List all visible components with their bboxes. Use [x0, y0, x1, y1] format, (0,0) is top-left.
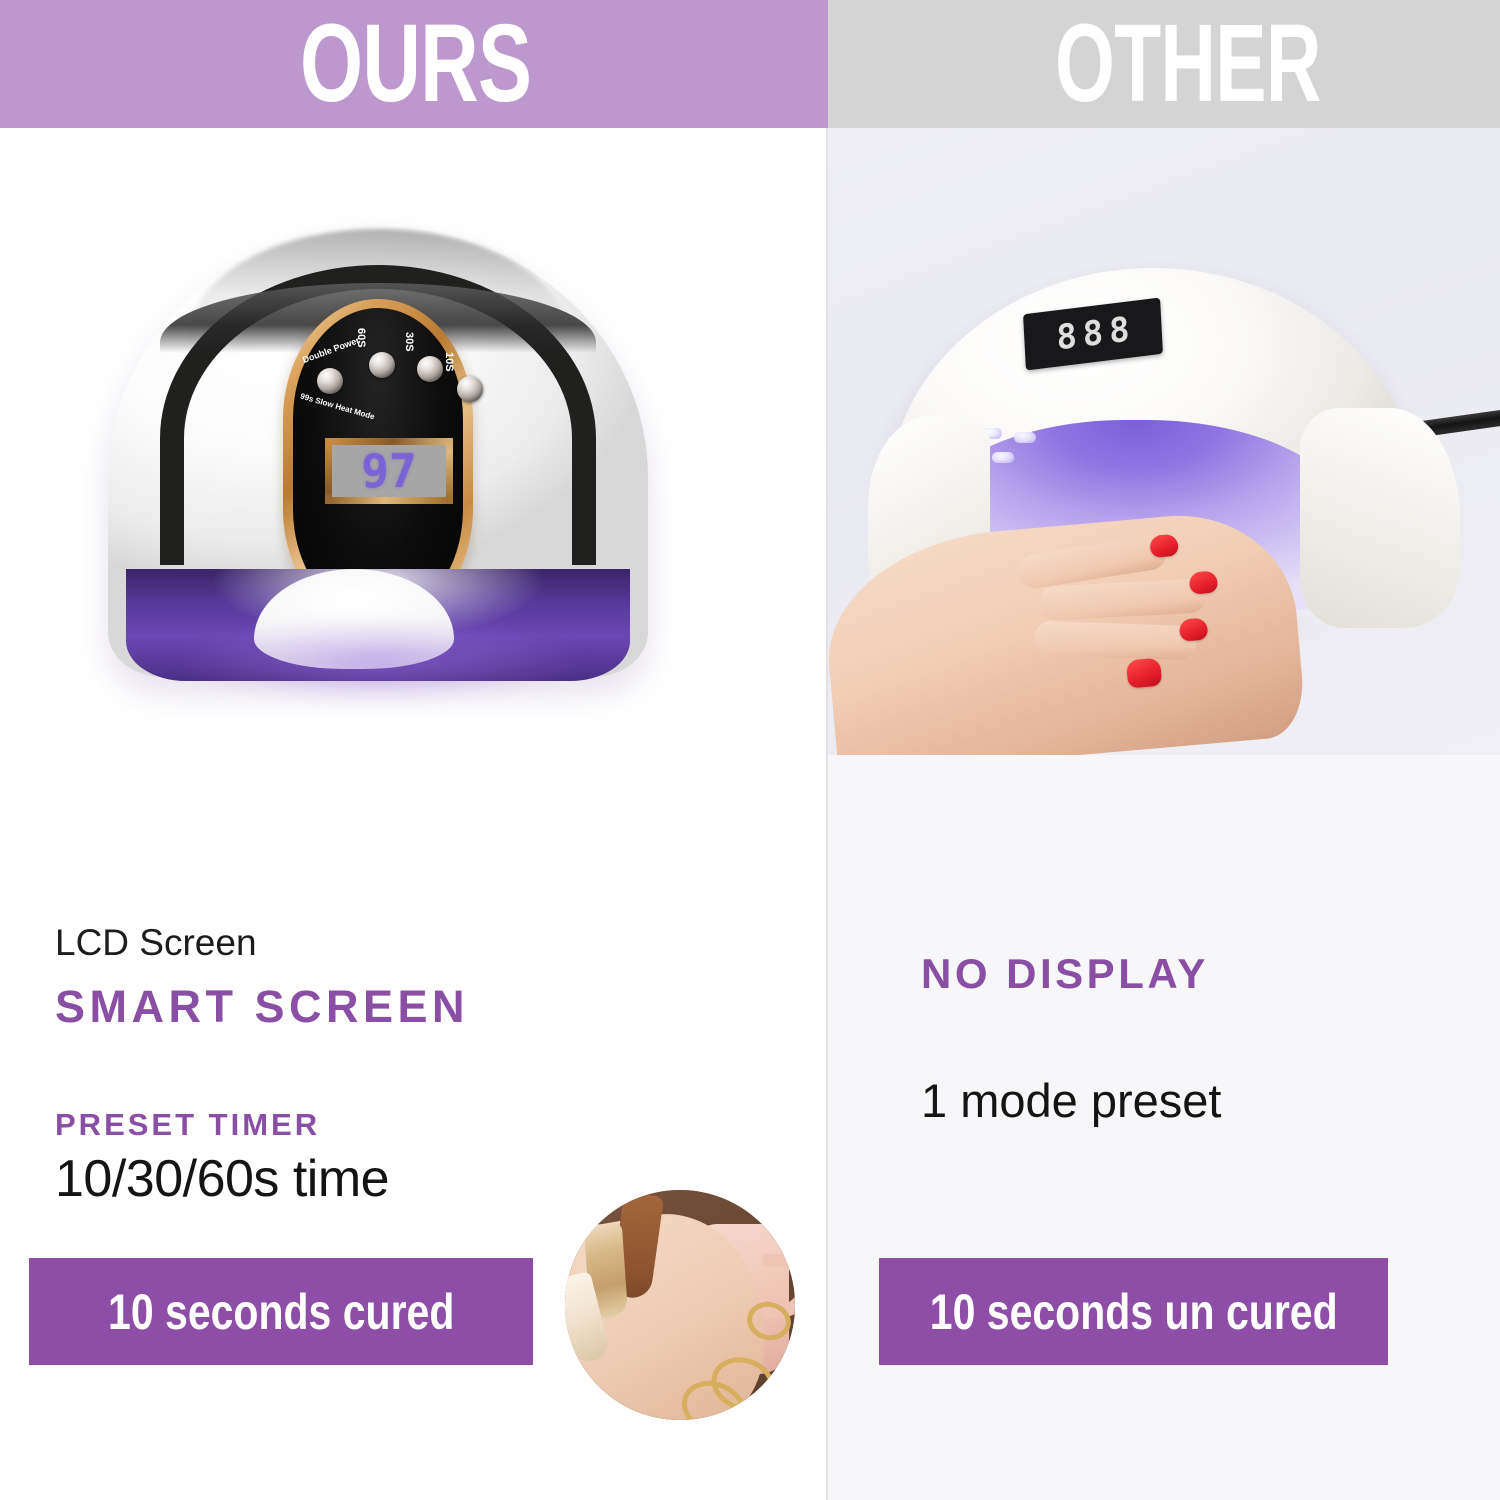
other-feature1-headline: NO DISPLAY — [921, 948, 1481, 1000]
uv-glow-halo — [98, 617, 658, 727]
button-30s[interactable] — [417, 356, 443, 382]
lcd-screen: 97 — [325, 438, 453, 504]
ours-feature1-label: LCD Screen — [55, 920, 755, 966]
ours-feature2-label: PRESET TIMER — [55, 1106, 755, 1144]
red-nail — [1126, 658, 1162, 689]
other-lamp-right-side — [1300, 408, 1460, 628]
header-bar: OURS OTHER — [0, 0, 1500, 128]
button-60s[interactable] — [369, 352, 395, 378]
nail-art-inset-photo — [565, 1190, 795, 1420]
ours-result-banner-text: 10 seconds cured — [108, 1286, 454, 1338]
other-product-photo: 8 8 8 — [828, 128, 1500, 755]
button-label-slow-heat-mode: 99s Slow Heat Mode — [299, 392, 375, 422]
lcd-value: 97 — [361, 448, 416, 494]
button-label-60s: 60S — [355, 328, 367, 348]
button-10s[interactable] — [457, 376, 483, 402]
other-result-banner-text: 10 seconds un cured — [930, 1286, 1338, 1338]
ours-product-photo: Double Power 99s Slow Heat Mode 60S 30S … — [60, 195, 700, 740]
other-result-banner: 10 seconds un cured — [879, 1258, 1388, 1365]
ours-lamp-illustration: Double Power 99s Slow Heat Mode 60S 30S … — [78, 217, 678, 717]
red-nail — [1189, 570, 1219, 594]
red-nail — [1179, 617, 1209, 641]
header-title-other: OTHER — [1055, 9, 1321, 119]
led-digit-1: 8 — [1056, 319, 1078, 356]
header-title-ours: OURS — [300, 9, 531, 119]
button-double-power[interactable] — [317, 368, 343, 394]
button-label-double-power: Double Power — [301, 335, 361, 365]
other-feature-text: NO DISPLAY 1 mode preset — [921, 948, 1481, 1130]
button-label-10s: 10S — [443, 352, 455, 372]
comparison-page: OURS OTHER Double Power 99s Slow Heat Mo… — [0, 0, 1500, 1500]
other-lamp-illustration: 8 8 8 — [848, 268, 1458, 688]
red-nail — [1149, 534, 1179, 558]
ours-result-banner: 10 seconds cured — [29, 1258, 533, 1365]
led-digit-2: 8 — [1082, 316, 1104, 353]
ours-feature1-headline: SMART SCREEN — [55, 980, 755, 1034]
ours-feature-text: LCD Screen SMART SCREEN PRESET TIMER 10/… — [55, 920, 755, 1210]
other-feature2-headline: 1 mode preset — [921, 1072, 1481, 1130]
button-label-30s: 30S — [403, 332, 415, 352]
led-digit-3: 8 — [1108, 313, 1130, 350]
